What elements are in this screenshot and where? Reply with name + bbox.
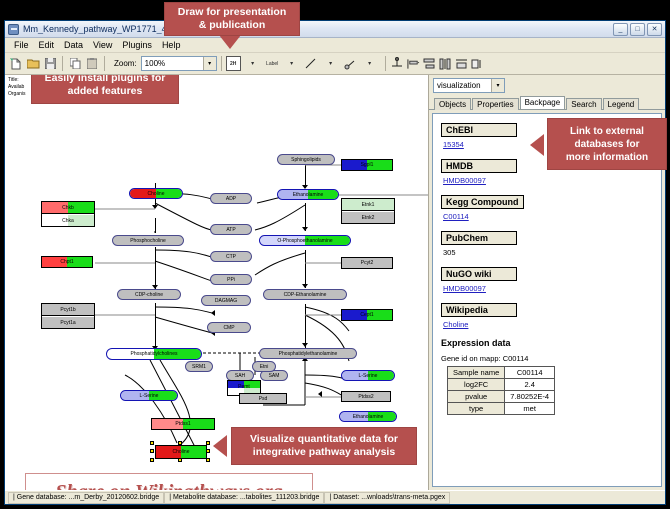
callout-draw-arrow (219, 35, 241, 49)
node-label: Sphingolipids (291, 157, 321, 163)
node-label: Ptdss2 (358, 394, 373, 400)
toolbar-separator (221, 56, 222, 71)
toolbar-separator (62, 56, 63, 71)
zoom-input[interactable]: 100% ▾ (141, 56, 217, 71)
chevron-down-icon[interactable]: ▾ (491, 79, 504, 92)
tab-properties[interactable]: Properties (472, 98, 518, 110)
gene-node[interactable]: Etnk1 (342, 199, 394, 211)
node-label: Etnk1 (362, 202, 375, 208)
handle-se[interactable] (206, 458, 210, 462)
metabolite-node[interactable]: PPi (210, 274, 252, 285)
hmdb-link[interactable]: HMDB00097 (443, 176, 486, 185)
zoom-label: Zoom: (114, 59, 137, 68)
row-key: type (448, 403, 505, 415)
table-row: pvalue 7.80252E-4 (448, 391, 555, 403)
callout-visualize-text: Visualize quantitative data for integrat… (250, 433, 398, 459)
table-row: log2FC 2.4 (448, 379, 555, 391)
node-label: Choline (130, 191, 182, 197)
minimize-button[interactable]: _ (613, 23, 628, 36)
close-button[interactable]: ✕ (647, 23, 662, 36)
node-label: Chkb (42, 205, 94, 211)
node-label: Etni (260, 364, 269, 370)
node-label: Cept1 (342, 312, 392, 318)
metabolite-node[interactable]: O-Phosphoethanolamine (259, 235, 351, 246)
gene-node[interactable]: Pcyt2 (341, 257, 393, 269)
menu-item-help[interactable]: Help (157, 40, 186, 50)
application-window: Mm_Kennedy_pathway_WP1771_45176.gpml _ □… (4, 20, 666, 505)
metabolite-node[interactable]: L-Serine (120, 390, 178, 401)
gene-node[interactable]: SRM1 (185, 361, 213, 372)
node-label: PPi (227, 277, 235, 283)
gene-node[interactable]: Chkb (42, 202, 94, 214)
toolbar-separator (385, 56, 386, 71)
status-gene-database: | Gene database: ...m_Derby_20120602.bri… (8, 492, 164, 504)
statusbar: | Gene database: ...m_Derby_20120602.bri… (5, 490, 665, 504)
menu-item-view[interactable]: View (88, 40, 117, 50)
node-label: CDP-Ethanolamine (284, 292, 327, 298)
callout-share: Share on Wikipathways.org (25, 473, 313, 490)
visualization-bar: visualization ▾ (429, 75, 665, 95)
expression-table: Sample name C00114 log2FC 2.4 pvalue 7.8… (447, 366, 555, 415)
gene-node[interactable]: Pcyt1b (42, 304, 94, 316)
node-label: Pcyt1b (60, 307, 75, 313)
handle-sw[interactable] (150, 458, 154, 462)
node-label: Phosphatidylethanolamine (279, 351, 338, 357)
metabolite-node[interactable]: DAGMAG (201, 295, 251, 306)
node-label: Ethanolamine (340, 414, 396, 420)
database-value-wikipedia: Choline (441, 320, 653, 329)
toolbar-separator (104, 56, 105, 71)
metabolite-node[interactable]: L-Serine (341, 370, 395, 381)
callout-link-arrow (530, 134, 544, 156)
gene-id-line: Gene id on mapp: C00114 (441, 354, 653, 363)
panel-tabs: Objects Properties Backpage Search Legen… (429, 95, 665, 110)
metabolite-node[interactable]: Phosphocholine (112, 235, 184, 246)
metabolite-node[interactable]: ADP (210, 193, 252, 204)
database-row: NuGO wiki HMDB00097 (441, 264, 653, 293)
database-name-nugo: NuGO wiki (441, 267, 517, 281)
node-label: CDP-choline (135, 292, 163, 298)
selected-node-group[interactable]: Choline (150, 441, 212, 463)
interaction-icon[interactable] (343, 56, 358, 71)
copy-icon[interactable] (67, 56, 83, 72)
handle-n[interactable] (178, 441, 182, 445)
callout-visualize-arrow (213, 435, 227, 457)
gene-node[interactable]: Sgpl1 (341, 159, 393, 171)
node-label: Ptdss1 (152, 421, 214, 427)
node-label: CMP (223, 325, 234, 331)
expression-data-heading: Expression data (441, 338, 653, 348)
tab-search[interactable]: Search (566, 98, 601, 110)
gene-node[interactable]: Chka (42, 215, 94, 226)
order-icon[interactable] (470, 56, 485, 71)
node-label: Etnk2 (362, 215, 375, 221)
callout-draw-text: Draw for presentation & publication (178, 6, 287, 32)
row-value: 2.4 (505, 379, 555, 391)
callout-share-text: Share on Wikipathways.org (55, 481, 282, 491)
node-label: SAM (269, 373, 280, 379)
node-label: DAGMAG (215, 298, 237, 304)
gene-node-group[interactable]: Etnk1 Etnk2 (341, 198, 395, 224)
wikipedia-link[interactable]: Choline (443, 320, 468, 329)
database-row: PubChem 305 (441, 228, 653, 257)
node-label: Pcyt2 (361, 260, 374, 266)
database-row: Wikipedia Choline (441, 300, 653, 329)
paste-icon[interactable] (84, 56, 100, 72)
callout-plugins: Easily install plugins for added feature… (31, 75, 179, 104)
metabolite-node[interactable]: CMP (207, 322, 251, 333)
metabolite-node[interactable]: Phosphatidylcholines (106, 348, 202, 360)
distribute-icon[interactable] (438, 56, 453, 71)
align-left-icon[interactable] (406, 56, 421, 71)
arrow-icon (318, 391, 322, 397)
metabolite-node[interactable]: Phosphatidylethanolamine (259, 348, 357, 359)
gene-node[interactable]: Ptdss1 (151, 418, 215, 430)
table-row: type met (448, 403, 555, 415)
database-value-pubchem: 305 (441, 248, 653, 257)
nugo-link[interactable]: HMDB00097 (443, 284, 486, 293)
gene-node-group[interactable]: Chkb Chka (41, 201, 95, 227)
row-key: log2FC (448, 379, 505, 391)
align-rows-icon[interactable] (422, 56, 437, 71)
tab-legend[interactable]: Legend (603, 98, 640, 110)
node-label: SRM1 (192, 364, 206, 370)
node-label: Pcyt1a (60, 320, 75, 326)
zoom-value: 100% (145, 59, 165, 68)
datanode-dropdown-icon[interactable]: ▾ (242, 56, 264, 72)
selection-handles[interactable] (150, 441, 212, 463)
menu-item-file[interactable]: File (9, 40, 34, 50)
row-value: 7.80252E-4 (505, 391, 555, 403)
node-label: ADP (226, 196, 236, 202)
node-label: Psd (259, 396, 268, 402)
node-label: Sgpl1 (342, 162, 392, 168)
node-label: Phosphocholine (130, 238, 166, 244)
window-titlebar: Mm_Kennedy_pathway_WP1771_45176.gpml _ □… (5, 21, 665, 38)
database-name-hmdb: HMDB (441, 159, 517, 173)
row-key: Sample name (448, 367, 505, 379)
line-dropdown-icon[interactable]: ▾ (320, 56, 342, 72)
metabolite-node[interactable]: Ethanolamine (277, 189, 339, 200)
handle-nw[interactable] (150, 441, 154, 445)
window-controls: _ □ ✕ (613, 23, 662, 36)
menu-item-plugins[interactable]: Plugins (117, 40, 157, 50)
callout-plugins-text: Easily install plugins for added feature… (45, 75, 166, 98)
node-label: Phosphatidylcholines (107, 351, 201, 357)
node-label: L-Serine (121, 393, 177, 399)
gene-node-group[interactable]: Pcyt1b Pcyt1a (41, 303, 95, 329)
gene-node[interactable]: Psd (239, 393, 287, 404)
tab-backpage[interactable]: Backpage (520, 96, 566, 109)
menu-item-data[interactable]: Data (59, 40, 88, 50)
callout-visualize: Visualize quantitative data for integrat… (231, 427, 417, 465)
chebi-link[interactable]: 15354 (443, 140, 464, 149)
save-icon[interactable] (42, 56, 58, 72)
visualization-value: visualization (437, 81, 481, 90)
node-label: L-Serine (342, 373, 394, 379)
menu-item-edit[interactable]: Edit (34, 40, 60, 50)
anchor-icon[interactable] (390, 56, 405, 71)
chevron-down-icon[interactable]: ▾ (203, 57, 216, 70)
gene-node[interactable]: Ptdss2 (341, 391, 391, 402)
handle-e[interactable] (206, 449, 210, 453)
handle-s[interactable] (178, 458, 182, 462)
metabolite-node[interactable]: CTP (210, 251, 252, 262)
metabolite-node[interactable]: Sphingolipids (277, 154, 335, 165)
interaction-dropdown-icon[interactable]: ▾ (359, 56, 381, 72)
callout-link: Link to external databases for more info… (547, 118, 667, 170)
database-name-kegg: Kegg Compound (441, 195, 524, 209)
gene-node[interactable]: Cept1 (341, 309, 393, 321)
callout-draw: Draw for presentation & publication (164, 2, 300, 36)
label-icon[interactable]: Label (265, 56, 280, 71)
gene-node[interactable]: Pcyt1a (42, 317, 94, 328)
menubar: File Edit Data View Plugins Help (5, 38, 665, 53)
row-value: met (505, 403, 555, 415)
node-label: Chka (42, 218, 94, 224)
database-name-chebi: ChEBI (441, 123, 517, 137)
visualization-select[interactable]: visualization ▾ (433, 78, 505, 93)
row-value: C00114 (505, 367, 555, 379)
new-file-icon[interactable] (8, 56, 24, 72)
metabolite-node[interactable]: Choline (129, 188, 183, 199)
row-key: pvalue (448, 391, 505, 403)
metabolite-node[interactable]: CDP-choline (117, 289, 181, 300)
tab-objects[interactable]: Objects (434, 98, 471, 110)
node-label: Chpt1 (42, 259, 92, 265)
label-dropdown-icon[interactable]: ▾ (281, 56, 303, 72)
database-value-nugo: HMDB00097 (441, 284, 653, 293)
node-label: Pemt (228, 384, 260, 390)
status-metabolite-database: | Metabolite database: ...tabolites_1112… (164, 492, 324, 504)
metabolite-node[interactable]: Ethanolamine (339, 411, 397, 422)
toolbar: Zoom: 100% ▾ 2H ▾ Label ▾ ▾ ▾ (5, 53, 665, 75)
table-row: Sample name C00114 (448, 367, 555, 379)
node-label: CTP (226, 254, 236, 260)
app-icon (8, 24, 19, 35)
maximize-button[interactable]: □ (630, 23, 645, 36)
gene-node[interactable]: Etni (252, 361, 276, 372)
database-value-kegg: C00114 (441, 212, 653, 221)
pathway-canvas[interactable]: Title: Availab Organis (5, 75, 429, 490)
metabolite-node[interactable]: ATP (210, 224, 252, 235)
gene-node[interactable]: Etnk2 (342, 212, 394, 223)
node-label: Ethanolamine (278, 192, 338, 198)
stack-icon[interactable] (454, 56, 469, 71)
database-name-wikipedia: Wikipedia (441, 303, 517, 317)
arrow-icon (211, 310, 215, 316)
node-label: SAH (235, 373, 245, 379)
metabolite-node[interactable]: CDP-Ethanolamine (263, 289, 347, 300)
node-label: O-Phosphoethanolamine (260, 238, 350, 244)
datanode-icon[interactable]: 2H (226, 56, 241, 71)
gene-node[interactable]: Chpt1 (41, 256, 93, 268)
node-label: ATP (226, 227, 235, 233)
handle-w[interactable] (150, 449, 154, 453)
line-icon[interactable] (304, 56, 319, 71)
database-value-hmdb: HMDB00097 (441, 176, 653, 185)
database-name-pubchem: PubChem (441, 231, 517, 245)
callout-link-text: Link to external databases for more info… (566, 125, 648, 164)
open-folder-icon[interactable] (25, 56, 41, 72)
handle-ne[interactable] (206, 441, 210, 445)
database-row: Kegg Compound C00114 (441, 192, 653, 221)
kegg-link[interactable]: C00114 (443, 212, 469, 221)
status-dataset: | Dataset: ...wnloads\trans-meta.pgex (324, 492, 450, 504)
